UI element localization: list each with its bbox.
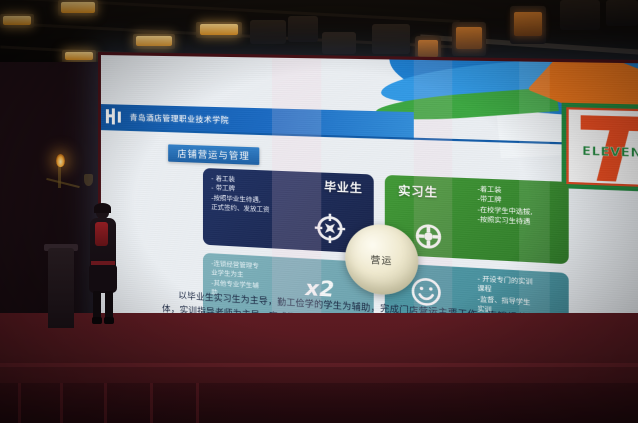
stage-light [58, 0, 98, 16]
stage-light [452, 22, 486, 56]
wall-sconce-icon [56, 154, 65, 167]
stage-light [510, 6, 546, 44]
stage-light [606, 0, 638, 26]
lectern [48, 248, 74, 328]
stage-skirt [0, 383, 638, 423]
stage-light [0, 14, 34, 28]
presenter [86, 205, 120, 330]
stage-light [196, 22, 242, 38]
stage-light [133, 34, 175, 49]
stage-light [250, 20, 286, 44]
stage-light [372, 24, 410, 54]
stage-light [322, 32, 356, 54]
center-hub-label: 营运 [370, 252, 392, 267]
conference-stage-scene: 青岛酒店管理职业技术学院 ELEVEN 店铺营运与管理 毕业生 - 着工装 - … [0, 0, 638, 423]
stage-light [560, 0, 600, 30]
stage-light [288, 16, 318, 42]
